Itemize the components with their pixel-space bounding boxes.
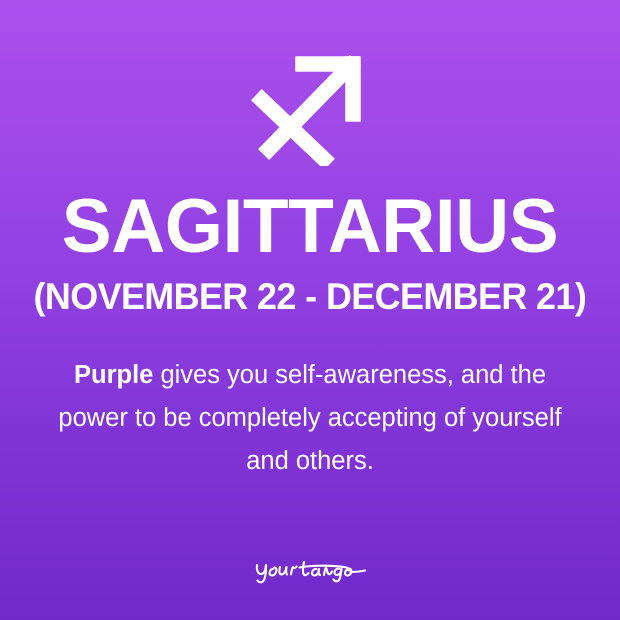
- brand-logo[interactable]: YourTango: [0, 554, 620, 584]
- zodiac-glyph: [250, 48, 370, 166]
- accent-word: Purple: [74, 361, 153, 389]
- sagittarius-arrow-icon: [250, 48, 370, 166]
- yourtango-logo-icon: [251, 554, 369, 584]
- date-range-label: (NOVEMBER 22 - DECEMBER 21): [34, 278, 587, 316]
- description-text: Purple gives you self-awareness, and the…: [40, 354, 580, 483]
- zodiac-card: SAGITTARIUS (NOVEMBER 22 - DECEMBER 21) …: [0, 0, 620, 620]
- page-title: SAGITTARIUS: [62, 192, 558, 262]
